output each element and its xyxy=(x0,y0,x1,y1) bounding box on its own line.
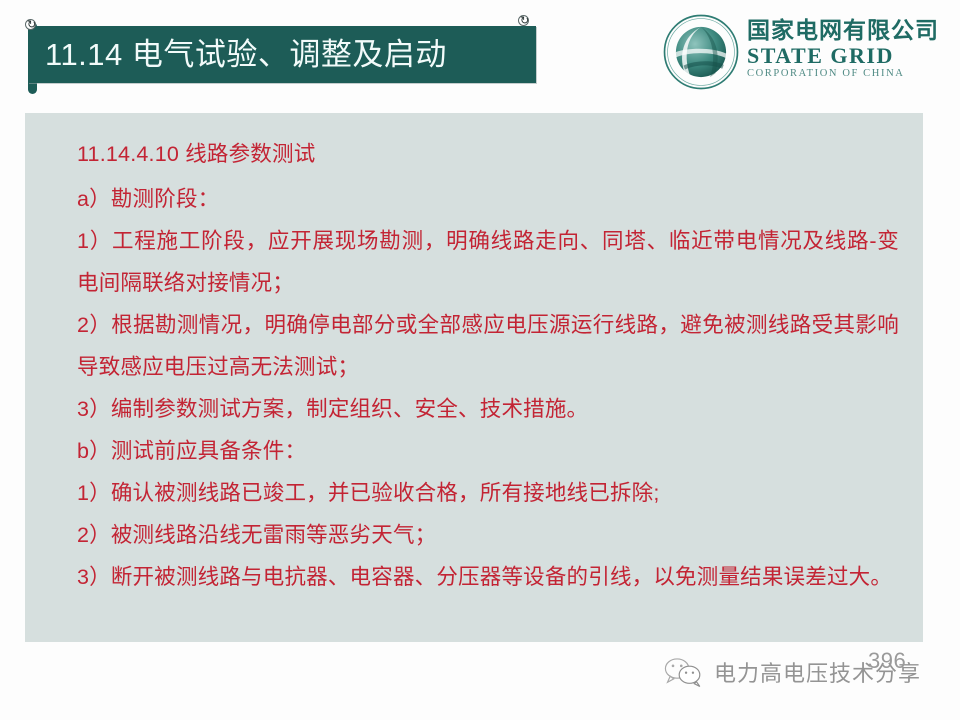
state-grid-logo: 国家电网有限公司 STATE GRID CORPORATION OF CHINA xyxy=(663,8,953,94)
section-b-item-2: 2）被测线路沿线无雷雨等恶劣天气； xyxy=(77,514,899,556)
state-grid-globe-icon xyxy=(663,14,739,90)
section-a-item-2: 2）根据勘测情况，明确停电部分或全部感应电压源运行线路，避免被测线路受其影响导致… xyxy=(77,304,899,388)
section-b-item-3: 3）断开被测线路与电抗器、电容器、分压器等设备的引线，以免测量结果误差过大。 xyxy=(77,556,899,598)
section-a-item-3: 3）编制参数测试方案，制定组织、安全、技术措施。 xyxy=(77,388,899,430)
section-b-label: b）测试前应具备条件： xyxy=(77,430,899,472)
logo-name-cn: 国家电网有限公司 xyxy=(747,18,953,43)
slide-title-box[interactable]: 11.14 电气试验、调整及启动 xyxy=(28,26,536,83)
wechat-icon xyxy=(662,655,706,689)
section-a-item-1: 1）工程施工阶段，应开展现场勘测，明确线路走向、同塔、临近带电情况及线路-变电间… xyxy=(77,220,899,304)
page-title: 11.14 电气试验、调整及启动 xyxy=(28,39,447,70)
logo-tagline-en: CORPORATION OF CHINA xyxy=(747,68,953,79)
section-b-item-1: 1）确认被测线路已竣工，并已验收合格，所有接地线已拆除; xyxy=(77,472,899,514)
page-number: 396 xyxy=(868,648,906,674)
section-a-label: a）勘测阶段： xyxy=(77,178,899,220)
content-heading: 11.14.4.10 线路参数测试 xyxy=(77,133,899,178)
state-grid-wordmark: 国家电网有限公司 STATE GRID CORPORATION OF CHINA xyxy=(747,18,953,79)
content-panel: 11.14.4.10 线路参数测试 a）勘测阶段： 1）工程施工阶段，应开展现场… xyxy=(25,113,923,642)
slide-canvas: 11.14 电气试验、调整及启动 ↻ ↻ 国家电网有限公司 STATE GRI xyxy=(0,0,960,720)
rotate-handle-icon-left[interactable]: ↻ xyxy=(27,20,36,31)
rotate-handle-icon-right[interactable]: ↻ xyxy=(520,16,529,27)
content-body: 11.14.4.10 线路参数测试 a）勘测阶段： 1）工程施工阶段，应开展现场… xyxy=(77,133,899,598)
logo-name-en: STATE GRID xyxy=(747,44,953,67)
